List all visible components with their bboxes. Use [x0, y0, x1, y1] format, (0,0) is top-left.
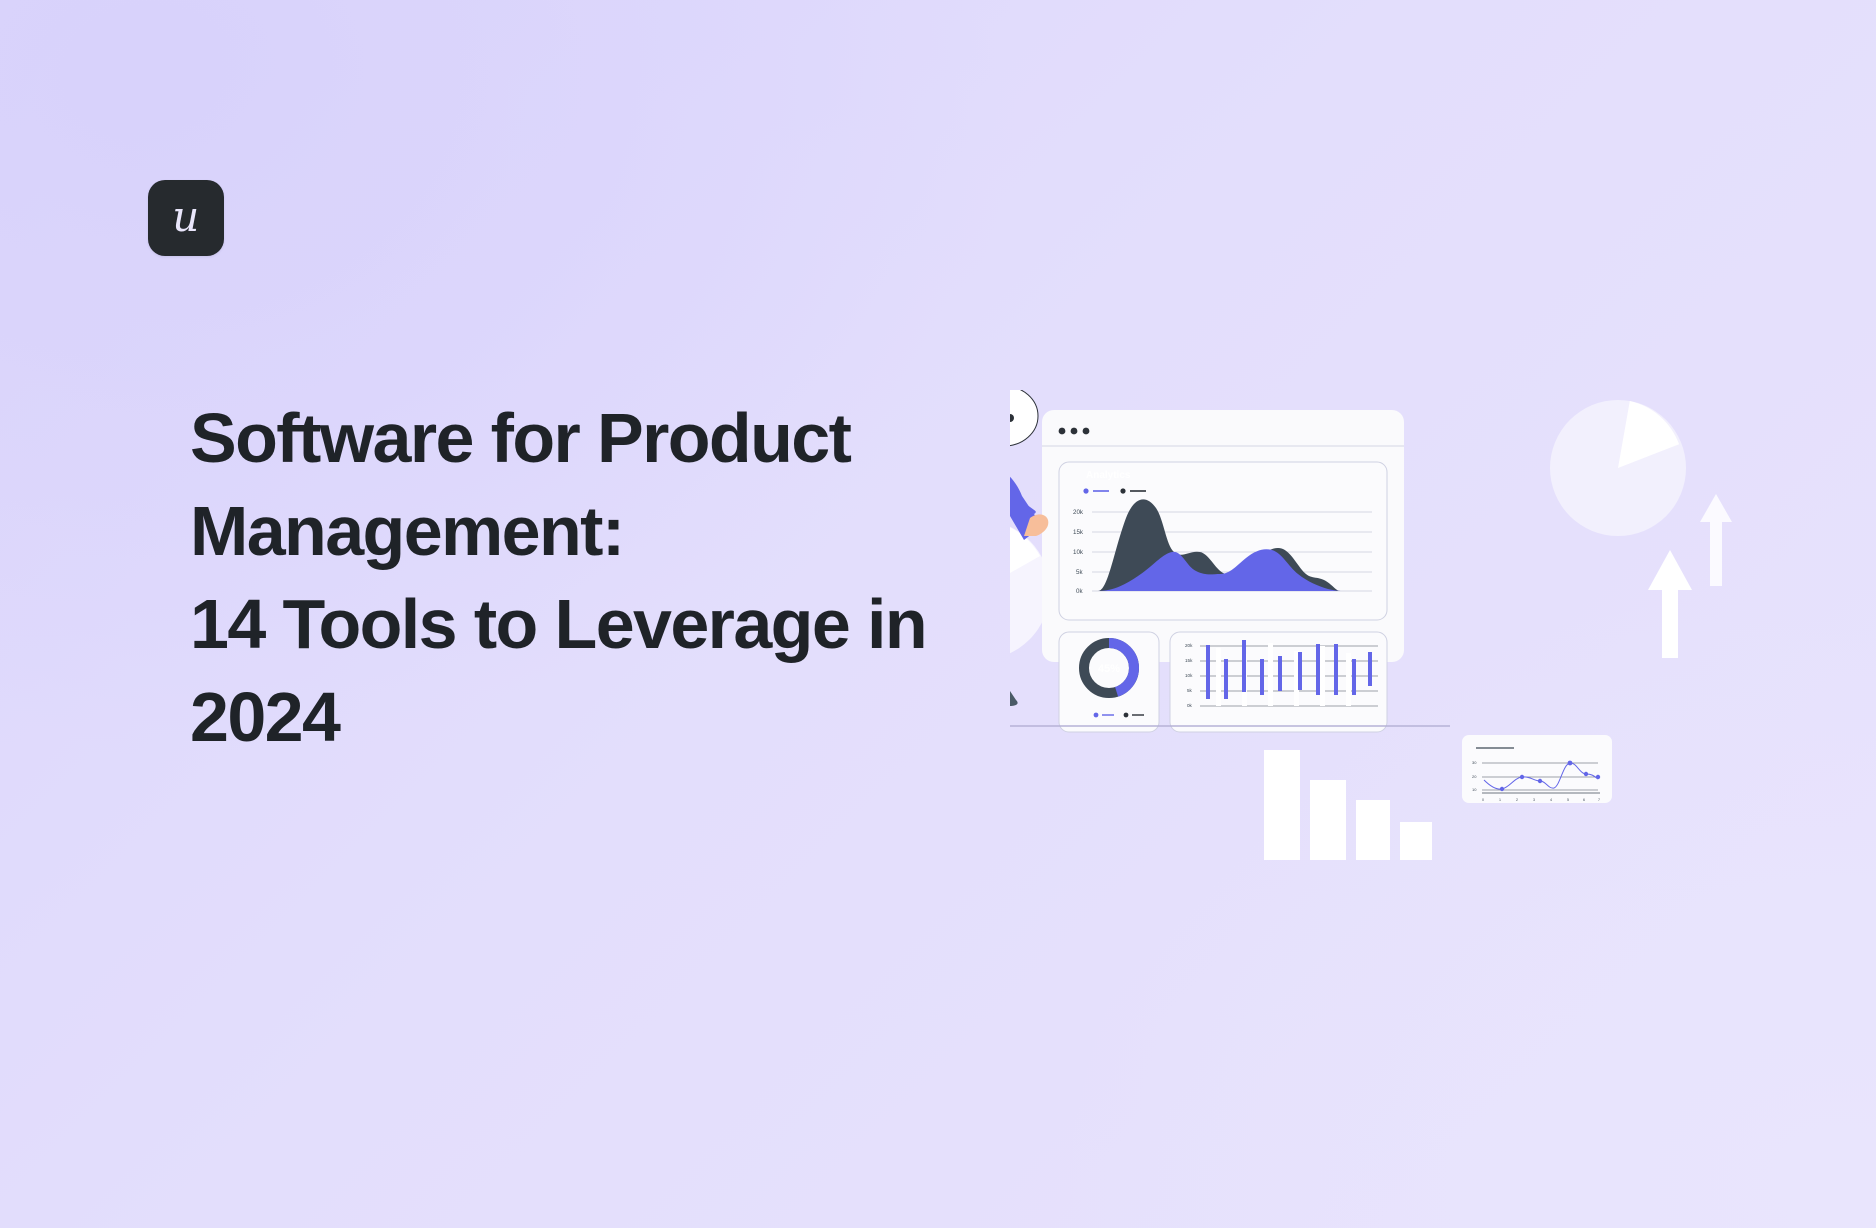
svg-text:20: 20 [1472, 774, 1477, 779]
svg-text:5: 5 [1567, 798, 1569, 802]
svg-text:15k: 15k [1073, 529, 1084, 536]
svg-text:10k: 10k [1073, 549, 1084, 556]
svg-text:5k: 5k [1076, 569, 1083, 576]
svg-text:30: 30 [1472, 760, 1477, 765]
svg-text:20k: 20k [1073, 509, 1084, 516]
shoe-right [1010, 688, 1018, 706]
brand-logo[interactable]: u [148, 180, 224, 256]
svg-text:20k: 20k [1185, 643, 1193, 648]
pie-decor-icon [1546, 400, 1686, 536]
line-chart-card: 30 20 10 0 1 2 3 [1462, 735, 1612, 803]
hero-banner: u Software for Product Management: 14 To… [0, 0, 1876, 1228]
analytics-title: Analytics [1086, 470, 1131, 481]
hero-illustration: Analytics 20k 15k 10k 5k 0k [1010, 390, 1830, 860]
analytics-card: Analytics 20k 15k 10k 5k 0k [1059, 462, 1387, 620]
svg-text:0k: 0k [1076, 588, 1083, 595]
window-dots-icon [1059, 428, 1090, 435]
svg-text:15k: 15k [1185, 658, 1193, 663]
svg-text:1: 1 [1499, 798, 1501, 802]
svg-text:0: 0 [1482, 798, 1484, 802]
svg-text:10k: 10k [1185, 673, 1193, 678]
svg-text:3: 3 [1533, 798, 1535, 802]
arrow-up-icon-small [1700, 494, 1732, 586]
svg-text:10: 10 [1472, 787, 1477, 792]
svg-text:5k: 5k [1187, 688, 1193, 693]
brand-logo-glyph: u [172, 196, 200, 238]
svg-text:6: 6 [1583, 798, 1585, 802]
arrow-up-icon-large [1648, 550, 1692, 658]
svg-text:4: 4 [1550, 798, 1552, 802]
decor-bar-group [1264, 750, 1432, 860]
donut-card: 45% [1059, 632, 1159, 732]
svg-text:7: 7 [1598, 798, 1600, 802]
speech-bubble-icon [1010, 390, 1038, 460]
page-title: Software for Product Management: 14 Tool… [190, 392, 980, 764]
range-bar-card: 20k 15k 10k 5k 0k [1170, 632, 1387, 732]
donut-center-label: 45% [1098, 663, 1120, 675]
svg-text:2: 2 [1516, 798, 1518, 802]
svg-text:0k: 0k [1187, 703, 1193, 708]
dashboard-window: Analytics 20k 15k 10k 5k 0k [1042, 410, 1404, 732]
